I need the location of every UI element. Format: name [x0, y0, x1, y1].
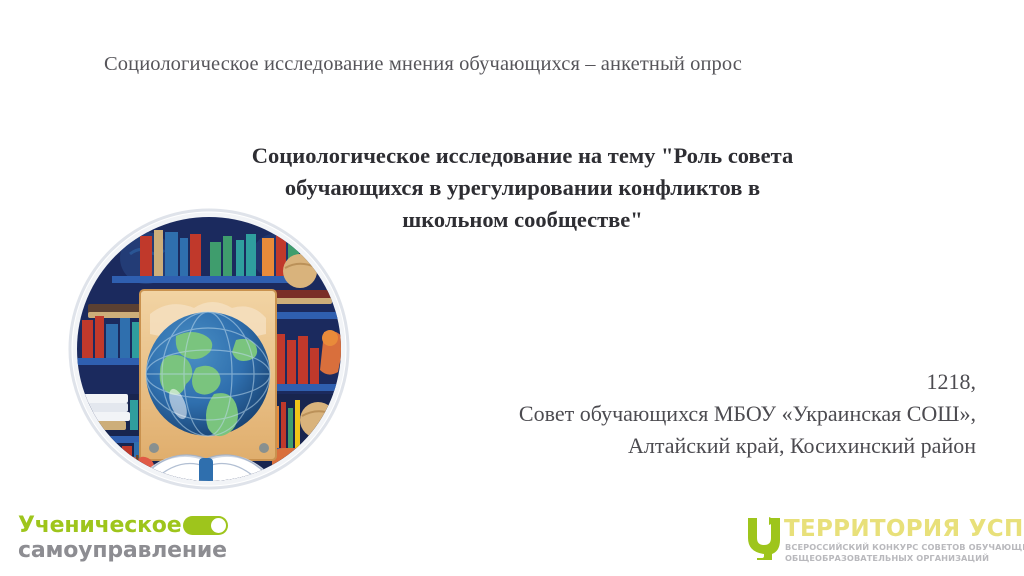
- attribution-code: 1218,: [356, 366, 976, 398]
- main-title-line-2: обучающихся в урегулировании конфликтов …: [195, 172, 850, 204]
- logo-ts-subtitle-line1: ВСЕРОССИЙСКИЙ КОНКУРС СОВЕТОВ ОБУЧАЮЩИХС…: [785, 542, 1024, 553]
- library-globe-circle-illustration: [68, 208, 350, 490]
- main-title-line-1: Социологическое исследование на тему "Ро…: [195, 140, 850, 172]
- slide-attribution: 1218, Совет обучающихся МБОУ «Украинская…: [356, 366, 976, 462]
- attribution-region: Алтайский край, Косихинский район: [356, 430, 976, 462]
- presentation-slide: Социологическое исследование мнения обуч…: [0, 0, 1024, 576]
- logo-ts-subtitle-line2: ОБЩЕОБРАЗОВАТЕЛЬНЫХ ОРГАНИЗАЦИЙ: [785, 553, 989, 564]
- letter-u-mark-icon: [742, 514, 786, 560]
- logo-ts-title: ТЕРРИТОРИЯ УСПЕХА: [784, 516, 1024, 542]
- toggle-knob: [211, 518, 226, 533]
- logo-territory-of-success: ТЕРРИТОРИЯ УСПЕХА ВСЕРОССИЙСКИЙ КОНКУРС …: [742, 512, 1010, 570]
- attribution-organization: Совет обучающихся МБОУ «Украинская СОШ»,: [356, 398, 976, 430]
- logo-su-line1: Ученическое: [18, 513, 181, 539]
- toggle-switch-icon: [183, 516, 228, 535]
- logo-su-line2: самоуправление: [18, 538, 227, 564]
- logo-student-self-government: Ученическое самоуправление: [18, 513, 248, 569]
- slide-header-text: Социологическое исследование мнения обуч…: [104, 50, 904, 78]
